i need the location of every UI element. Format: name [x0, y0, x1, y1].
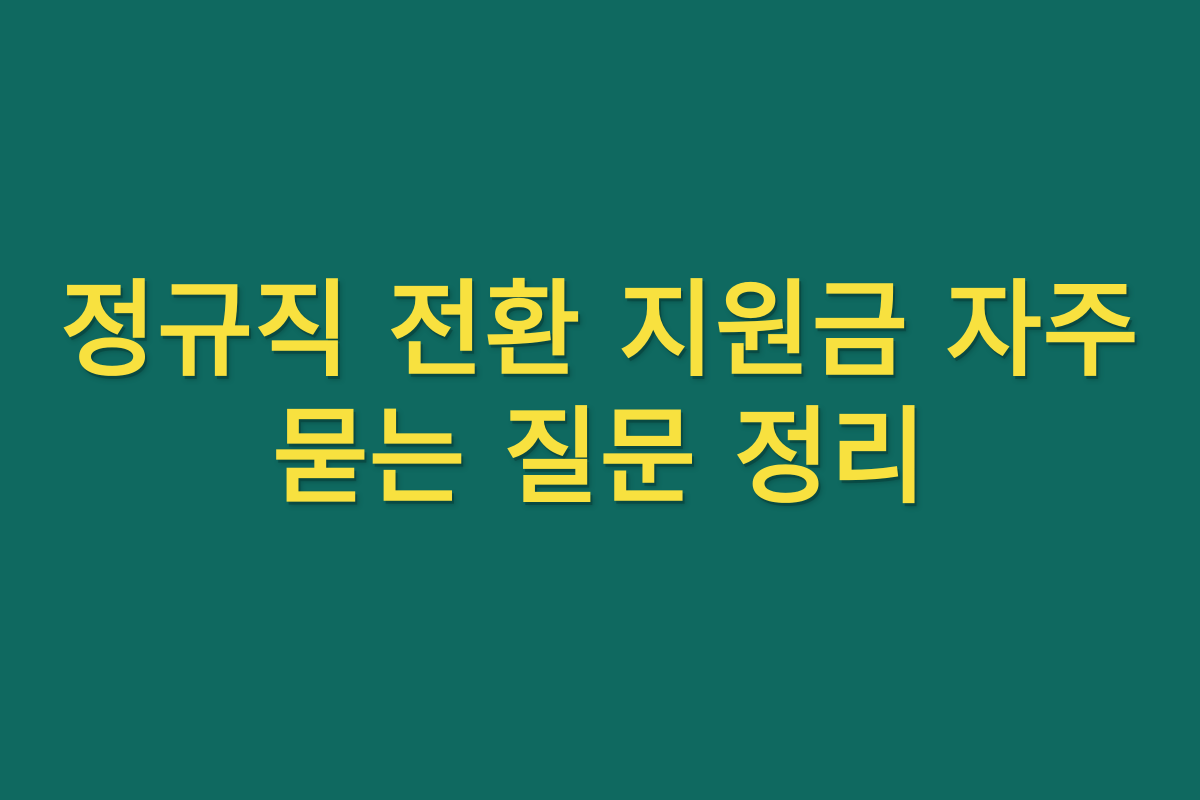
- title-line-2: 묻는 질문 정리: [40, 394, 1160, 521]
- title-card: 정규직 전환 지원금 자주 묻는 질문 정리: [0, 0, 1200, 800]
- title-line-1: 정규직 전환 지원금 자주: [40, 267, 1160, 394]
- page-title: 정규직 전환 지원금 자주 묻는 질문 정리: [40, 267, 1160, 533]
